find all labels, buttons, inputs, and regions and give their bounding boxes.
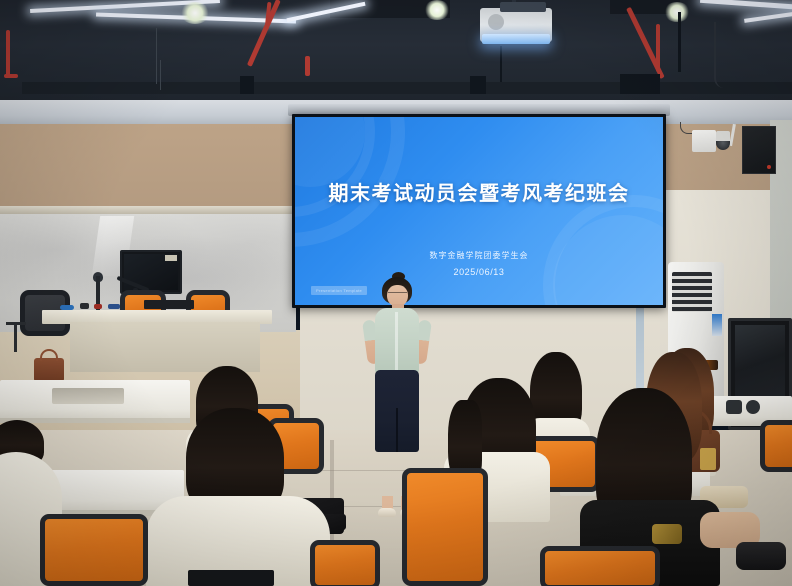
ceiling-conduit (500, 46, 502, 86)
sprinkler-pipe (6, 30, 10, 76)
desk-item[interactable] (94, 304, 102, 309)
handbag-handle (40, 349, 58, 361)
presenter-shirt-placket (395, 312, 398, 370)
ceiling-spotlight (424, 0, 450, 20)
presenter-left-shoe (378, 508, 396, 517)
shirt-graphic (188, 570, 274, 586)
chair-back (40, 514, 148, 586)
desk-socket (726, 400, 742, 414)
wall-speaker (742, 126, 776, 174)
projector-beam (482, 34, 550, 44)
slide-organization: 数字金融学院团委学生会 (295, 250, 663, 261)
ceiling-bracket (470, 76, 486, 94)
glasses-icon (388, 292, 407, 296)
desk-socket (746, 400, 760, 414)
hanging-cable (156, 28, 157, 84)
slide-date: 2025/06/13 (295, 267, 663, 277)
desk-item[interactable] (80, 303, 89, 309)
hanging-cable (160, 60, 161, 90)
ac-display-panel[interactable] (712, 314, 722, 336)
chair[interactable] (40, 514, 148, 586)
ceiling-bracket (620, 74, 660, 94)
ceiling-spotlight (180, 2, 210, 24)
sprinkler-pipe (305, 56, 310, 76)
coat-stand-pole (14, 324, 17, 352)
chair-back (402, 468, 488, 586)
sprinkler-pipe (4, 74, 18, 78)
presentation-slide: 期末考试动员会暨考风考纪班会 数字金融学院团委学生会 2025/06/13 Pr… (295, 117, 663, 305)
projector-bracket (500, 2, 546, 12)
ceiling-conduit (678, 12, 681, 72)
ceiling-bracket (240, 76, 254, 94)
top-embroidery (652, 524, 682, 544)
classroom-photo: 期末考试动员会暨考风考纪班会 数字金融学院团委学生会 2025/06/13 Pr… (0, 0, 792, 586)
wifi-access-point-icon (692, 130, 716, 152)
chair[interactable] (540, 546, 660, 586)
projector-lens-icon (488, 14, 504, 30)
handbag-clasp (700, 448, 716, 470)
chair[interactable] (760, 420, 792, 472)
ceiling-spotlight (664, 2, 690, 22)
speaker-logo-icon (767, 165, 771, 169)
monitor-label (165, 255, 177, 261)
slide-watermark: Presentation Template (311, 286, 367, 295)
lectern-monitor[interactable] (120, 250, 182, 294)
student-item-dark (736, 542, 786, 570)
chair-back (760, 420, 792, 472)
chair[interactable] (310, 540, 380, 586)
chair[interactable] (402, 468, 488, 586)
ac-grille (672, 272, 712, 312)
slide-title: 期末考试动员会暨考风考纪班会 (295, 177, 663, 206)
desk-cable-cutout (52, 388, 124, 404)
ceiling-projector (480, 8, 552, 42)
teacher-desk-panel (70, 322, 260, 372)
projection-screen[interactable]: 期末考试动员会暨考风考纪班会 数字金融学院团委学生会 2025/06/13 Pr… (292, 114, 666, 308)
hanging-cable (714, 22, 724, 88)
chair-back (540, 546, 660, 586)
desk-item[interactable] (60, 305, 74, 310)
handbag-on-chair[interactable] (34, 358, 64, 382)
keyboard[interactable] (144, 300, 194, 309)
ceiling-beam (22, 82, 792, 94)
presenter-trouser-gap (396, 408, 398, 452)
chair-back (310, 540, 380, 586)
desk-item[interactable] (108, 304, 120, 309)
